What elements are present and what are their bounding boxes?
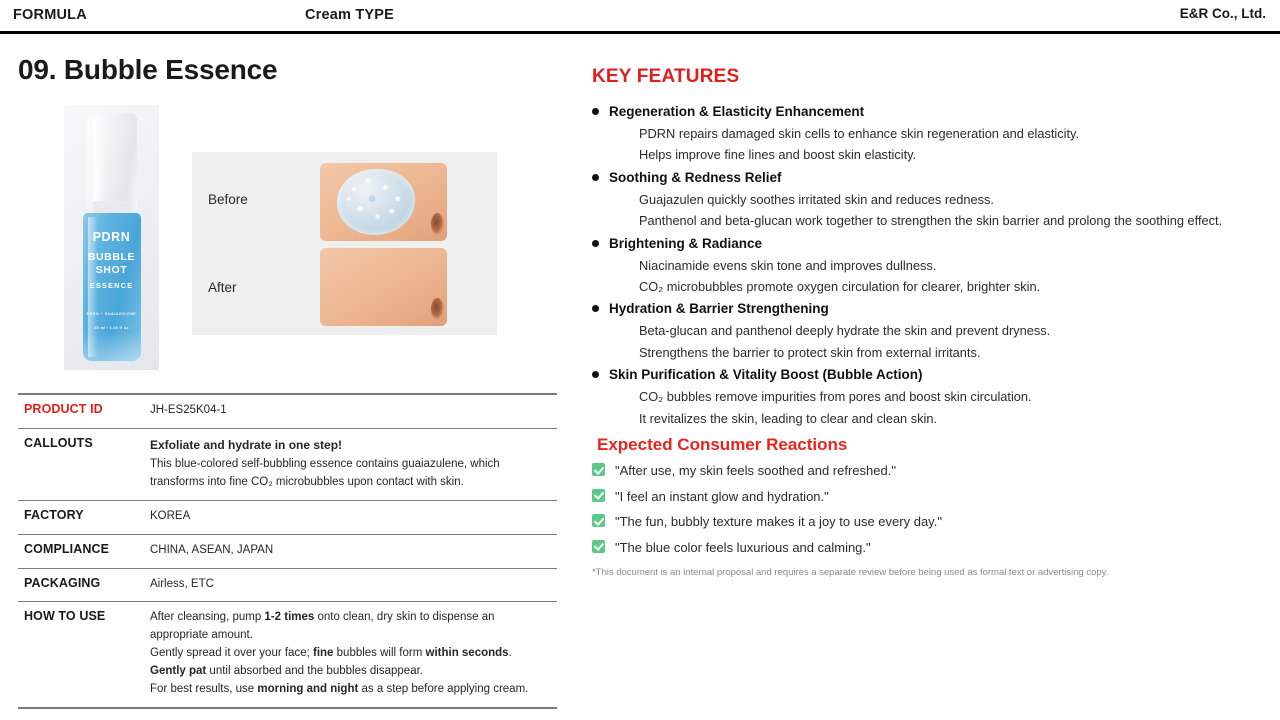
list-item: "The blue color feels luxurious and calm… (592, 539, 1264, 557)
bottle-ingredients-text: PDRN + GUAIAZULENE (83, 312, 141, 316)
row-value-product-id: JH-ES25K04-1 (148, 395, 557, 428)
consumer-quote-text: "After use, my skin feels soothed and re… (615, 463, 896, 478)
feature-detail: Strengthens the barrier to protect skin … (592, 342, 1264, 363)
feature-item: Hydration & Barrier Strengthening Beta-g… (592, 298, 1264, 363)
feature-detail: Guajazulen quickly soothes irritated ski… (592, 189, 1264, 210)
list-item: "The fun, bubbly texture makes it a joy … (592, 513, 1264, 531)
feature-heading: Soothing & Redness Relief (592, 167, 1264, 189)
bullet-dot-icon (592, 174, 599, 181)
page-header: FORMULA Cream TYPE E&R Co., Ltd. (0, 0, 1280, 34)
header-type-label: Cream TYPE (305, 7, 394, 23)
feature-heading: Regeneration & Elasticity Enhancement (592, 101, 1264, 123)
table-row: CALLOUTS Exfoliate and hydrate in one st… (18, 428, 557, 500)
feature-heading-text: Soothing & Redness Relief (609, 170, 782, 185)
row-key-product-id: PRODUCT ID (18, 395, 148, 428)
after-photo (320, 248, 447, 326)
bottle-volume-text: 50 ml / 1.66 fl oz (83, 326, 141, 330)
row-key-compliance: COMPLIANCE (18, 535, 148, 568)
check-icon (592, 514, 605, 527)
feature-detail: Niacinamide evens skin tone and improves… (592, 255, 1264, 276)
skin-detail-mark (431, 298, 444, 320)
bottle-body: PDRN BUBBLE SHOT ESSENCE PDRN + GUAIAZUL… (83, 213, 141, 361)
feature-detail: PDRN repairs damaged skin cells to enhan… (592, 123, 1264, 144)
check-icon (592, 489, 605, 502)
bullet-dot-icon (592, 240, 599, 247)
feature-item: Soothing & Redness Relief Guajazulen qui… (592, 167, 1264, 232)
row-key-how-to-use: HOW TO USE (18, 602, 148, 706)
bullet-dot-icon (592, 305, 599, 312)
disclaimer-note: *This document is an internal proposal a… (592, 567, 1264, 578)
row-value-callouts: Exfoliate and hydrate in one step! This … (148, 429, 557, 500)
feature-detail: Beta-glucan and panthenol deeply hydrate… (592, 320, 1264, 341)
row-value-packaging: Airless, ETC (148, 569, 557, 602)
row-key-factory: FACTORY (18, 501, 148, 534)
header-company-name: E&R Co., Ltd. (1180, 6, 1266, 21)
feature-detail: It revitalizes the skin, leading to clea… (592, 408, 1264, 429)
feature-detail: CO₂ bubbles remove impurities from pores… (592, 386, 1264, 407)
slide-page: FORMULA Cream TYPE E&R Co., Ltd. 09. Bub… (0, 0, 1280, 720)
bottle-name-line1: BUBBLE (83, 251, 141, 263)
before-label: Before (208, 192, 248, 207)
table-row: COMPLIANCE CHINA, ASEAN, JAPAN (18, 534, 557, 568)
callouts-line: This blue-colored self-bubbling essence … (150, 456, 553, 474)
feature-heading-text: Regeneration & Elasticity Enhancement (609, 104, 864, 119)
how-to-use-line: Gently spread it over your face; fine bu… (150, 645, 553, 663)
feature-heading: Hydration & Barrier Strengthening (592, 298, 1264, 320)
callouts-headline: Exfoliate and hydrate in one step! (150, 436, 553, 455)
row-key-packaging: PACKAGING (18, 569, 148, 602)
feature-heading: Brightening & Radiance (592, 233, 1264, 255)
product-image: PDRN BUBBLE SHOT ESSENCE PDRN + GUAIAZUL… (64, 105, 159, 370)
bottle-name-line2: SHOT (83, 264, 141, 276)
product-bottle: PDRN BUBBLE SHOT ESSENCE PDRN + GUAIAZUL… (83, 113, 141, 361)
feature-detail: CO₂ microbubbles promote oxygen circulat… (592, 276, 1264, 297)
bullet-dot-icon (592, 108, 599, 115)
feature-heading-text: Skin Purification & Vitality Boost (Bubb… (609, 367, 923, 382)
skin-detail-mark (431, 213, 444, 235)
row-key-callouts: CALLOUTS (18, 429, 148, 500)
bullet-dot-icon (592, 371, 599, 378)
bottle-pump-cap (87, 113, 137, 209)
table-row: PRODUCT ID JH-ES25K04-1 (18, 393, 557, 428)
after-label: After (208, 280, 237, 295)
skin-texture (320, 248, 447, 326)
row-value-compliance: CHINA, ASEAN, JAPAN (148, 535, 557, 568)
consumer-quote-text: "I feel an instant glow and hydration." (615, 489, 829, 504)
list-item: "After use, my skin feels soothed and re… (592, 462, 1264, 480)
bottle-category-text: ESSENCE (83, 281, 141, 290)
before-photo (320, 163, 447, 241)
feature-item: Skin Purification & Vitality Boost (Bubb… (592, 364, 1264, 429)
callouts-line: transforms into fine CO₂ microbubbles up… (150, 474, 553, 492)
feature-item: Brightening & Radiance Niacinamide evens… (592, 233, 1264, 298)
feature-item: Regeneration & Elasticity Enhancement PD… (592, 101, 1264, 166)
row-value-how-to-use: After cleansing, pump 1-2 times onto cle… (148, 602, 557, 706)
consumer-quote-text: "The fun, bubbly texture makes it a joy … (615, 514, 942, 529)
check-icon (592, 463, 605, 476)
row-value-factory: KOREA (148, 501, 557, 534)
feature-detail: Helps improve fine lines and boost skin … (592, 144, 1264, 165)
feature-heading-text: Hydration & Barrier Strengthening (609, 301, 829, 316)
how-to-use-line: After cleansing, pump 1-2 times onto cle… (150, 609, 553, 627)
table-row: PACKAGING Airless, ETC (18, 568, 557, 602)
list-item: "I feel an instant glow and hydration." (592, 488, 1264, 506)
feature-detail: Panthenol and beta-glucan work together … (592, 210, 1264, 231)
consumer-reactions-title: Expected Consumer Reactions (592, 435, 1264, 455)
bottle-brand-text: PDRN (83, 230, 141, 244)
right-column: KEY FEATURES Regeneration & Elasticity E… (592, 66, 1264, 578)
spec-table: PRODUCT ID JH-ES25K04-1 CALLOUTS Exfolia… (18, 393, 557, 709)
how-to-use-line: appropriate amount. (150, 627, 553, 645)
header-formula-label: FORMULA (13, 7, 87, 23)
feature-heading-text: Brightening & Radiance (609, 236, 762, 251)
consumer-quote-text: "The blue color feels luxurious and calm… (615, 540, 871, 555)
before-after-panel: Before After (192, 152, 497, 335)
key-features-title: KEY FEATURES (592, 66, 1264, 88)
table-row: FACTORY KOREA (18, 500, 557, 534)
check-icon (592, 540, 605, 553)
how-to-use-line: Gently pat until absorbed and the bubble… (150, 663, 553, 681)
page-title: 09. Bubble Essence (18, 54, 277, 86)
table-row: HOW TO USE After cleansing, pump 1-2 tim… (18, 601, 557, 706)
how-to-use-line: For best results, use morning and night … (150, 681, 553, 699)
feature-heading: Skin Purification & Vitality Boost (Bubb… (592, 364, 1264, 386)
